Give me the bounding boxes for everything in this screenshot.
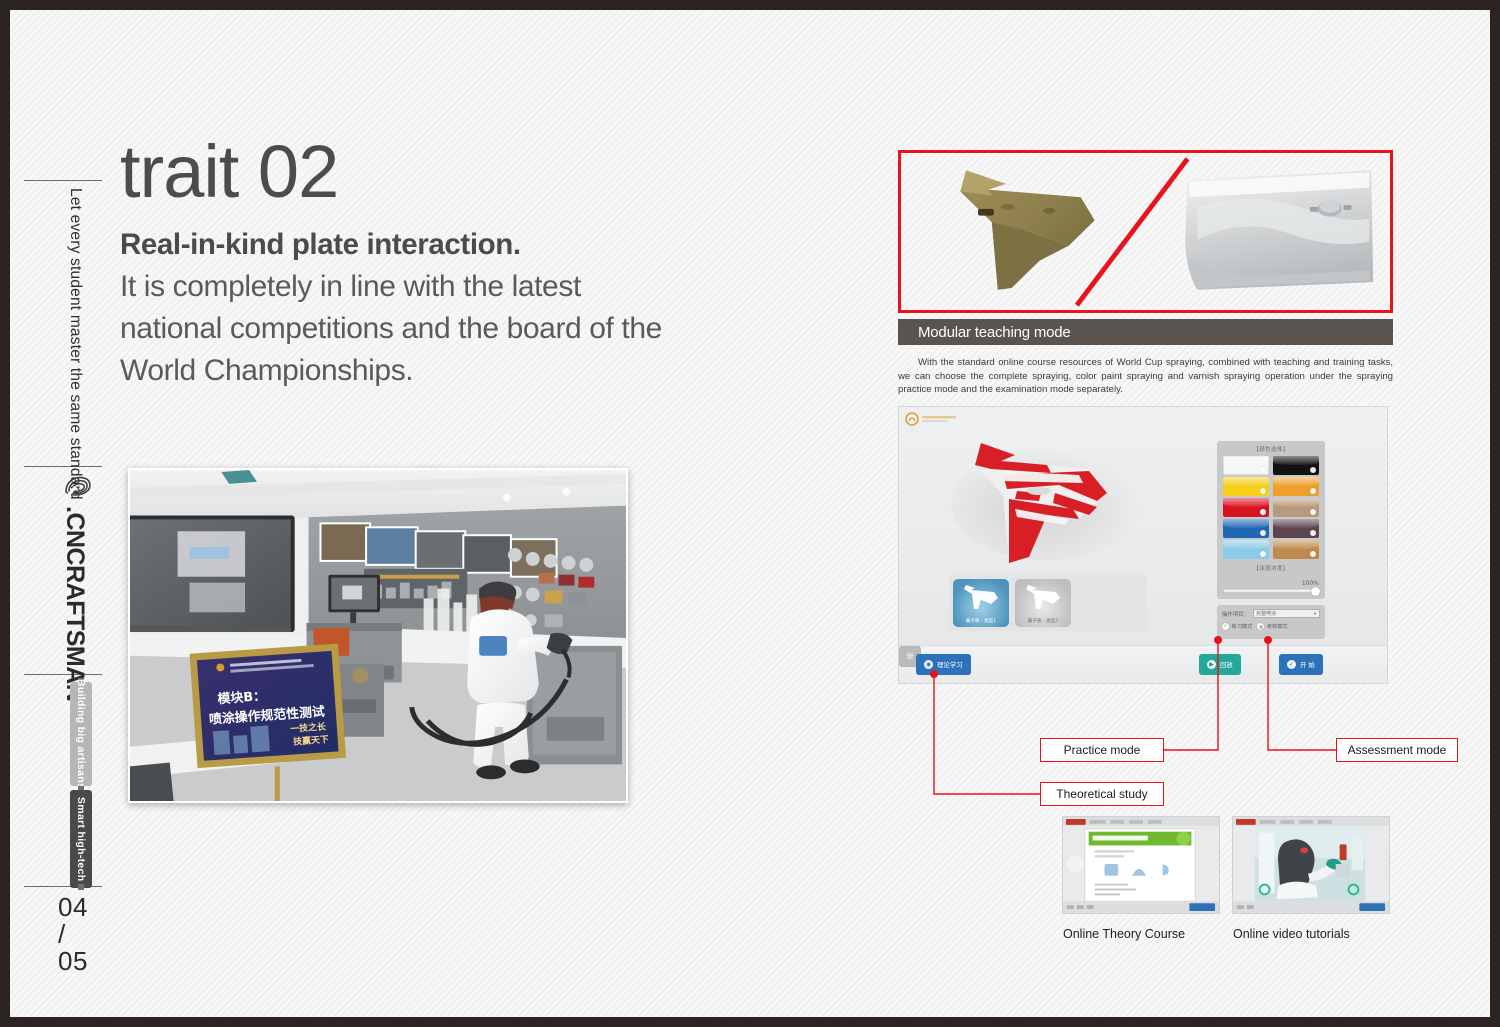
radio-practice-mode-label: 练习模式: [1232, 623, 1253, 630]
badge-smart-high-tech: Smart high-tech: [70, 790, 92, 888]
part-thumbnail-2-caption: 翼子板 - 类型2: [1015, 618, 1071, 624]
slider-knob[interactable]: [1311, 587, 1320, 596]
coating-density-slider[interactable]: 100%: [1223, 580, 1319, 593]
swatch-red[interactable]: [1223, 498, 1269, 517]
car-door-silver: [1185, 170, 1373, 289]
fender-thumb-icon-1: [960, 582, 1002, 610]
check-icon: [1222, 623, 1229, 630]
rail-tagline: Let every student master the same standa…: [66, 188, 84, 500]
swatch-bronze[interactable]: [1273, 540, 1319, 559]
radio-empty-icon: [1257, 623, 1264, 630]
lead-body-text: It is completely in line with the latest…: [120, 266, 680, 392]
spray-training-software-window: 翼子板 - 类型1 翼子板 - 类型2 【颜色选择】: [898, 406, 1388, 684]
chevron-down-icon: ▼: [1313, 611, 1317, 616]
browser-slide-green-header: [1063, 817, 1219, 913]
operation-project-select[interactable]: 完整喷涂 ▼: [1253, 609, 1320, 618]
slider-track[interactable]: [1223, 589, 1319, 593]
start-button-label: 开 始: [1300, 660, 1315, 669]
pill-nub-bottom: [78, 884, 84, 890]
swatch-tan[interactable]: [1273, 498, 1319, 517]
color-palette-panel: 【颜色选择】 【涂层浓度】 100%: [1217, 441, 1325, 599]
parts-illustration: [901, 153, 1390, 310]
rail-divider-1: [24, 180, 102, 181]
page-number-slash: /: [58, 919, 66, 949]
modular-teaching-paragraph: With the standard online course resource…: [898, 356, 1393, 397]
trait-kicker: trait 02: [120, 134, 680, 210]
lead-bold-line: Real-in-kind plate interaction.: [120, 228, 680, 262]
theory-study-button[interactable]: ◉ 理论学习: [916, 654, 971, 675]
theory-study-button-label: 理论学习: [937, 660, 963, 669]
part-thumbnail-2[interactable]: 翼子板 - 类型2: [1015, 579, 1071, 627]
right-column: Modular teaching mode With the standard …: [898, 150, 1396, 397]
replay-icon: ▶: [1207, 660, 1216, 669]
page-number: 04 / 05: [58, 894, 88, 975]
radio-exam-mode[interactable]: 考核模式: [1257, 623, 1287, 630]
swatch-yellow[interactable]: [1223, 477, 1269, 496]
training-room-illustration: 模块B： 喷涂操作规范性测试 一技之长 技赢天下: [130, 470, 626, 801]
operation-project-value: 完整喷涂: [1256, 610, 1276, 617]
online-video-tutorials-thumbnail[interactable]: [1232, 816, 1390, 914]
part-preview-canvas[interactable]: [929, 427, 1179, 567]
part-thumbnail-1-caption: 翼子板 - 类型1: [953, 618, 1009, 624]
radio-practice-mode[interactable]: 练习模式: [1222, 623, 1252, 630]
car-fender-gold: [960, 170, 1094, 289]
app-brand-logo-icon: [905, 412, 965, 426]
online-theory-course-caption: Online Theory Course: [1063, 927, 1185, 941]
page-canvas: Let every student master the same standa…: [10, 10, 1490, 1017]
swatch-light-blue[interactable]: [1223, 540, 1269, 559]
operation-project-row: 操作项目： 完整喷涂 ▼: [1217, 605, 1325, 618]
page-number-current: 04: [58, 892, 88, 922]
part-thumbnail-strip: 翼子板 - 类型1 翼子板 - 类型2: [949, 575, 1147, 631]
color-swatch-grid: [1223, 456, 1319, 559]
red-sprayed-fender-graphic: [929, 427, 1179, 567]
operation-project-label: 操作项目：: [1222, 610, 1249, 618]
app-footer-bar: ◉ 理论学习 ▶ 回放 ✓ 开 始 ⎈: [899, 645, 1387, 683]
swirl-logo-icon: [62, 472, 94, 502]
book-icon: ◉: [924, 660, 933, 669]
radio-exam-mode-label: 考核模式: [1267, 623, 1288, 630]
swatch-orange[interactable]: [1273, 477, 1319, 496]
replay-button[interactable]: ▶ 回放: [1199, 654, 1241, 675]
replay-button-label: 回放: [1220, 660, 1233, 669]
callout-assessment-mode: Assessment mode: [1336, 738, 1458, 762]
modular-teaching-mode-bar: Modular teaching mode: [898, 319, 1393, 345]
lead-block: trait 02 Real-in-kind plate interaction.…: [120, 134, 680, 392]
slider-value: 100%: [1223, 580, 1319, 587]
operation-mode-panel: 操作项目： 完整喷涂 ▼ 练习模式 考核模式: [1217, 605, 1325, 639]
online-theory-course-thumbnail[interactable]: [1062, 816, 1220, 914]
callout-practice-mode: Practice mode: [1040, 738, 1164, 762]
slider-title: 【涂层浓度】: [1217, 559, 1325, 572]
mode-radio-row: 练习模式 考核模式: [1217, 618, 1325, 630]
fender-thumb-icon-2: [1022, 582, 1064, 610]
swatch-plum[interactable]: [1273, 519, 1319, 538]
browser-video-spray-booth: [1233, 817, 1389, 913]
parts-showcase-frame: [898, 150, 1393, 313]
training-room-photo: 模块B： 喷涂操作规范性测试 一技之长 技赢天下: [128, 468, 628, 803]
svg-text:模块B：: 模块B：: [217, 688, 266, 707]
swatch-black[interactable]: [1273, 456, 1319, 475]
start-button[interactable]: ✓ 开 始: [1279, 654, 1323, 675]
swatch-white[interactable]: [1223, 456, 1269, 475]
badge-building-big-artisans: Building big artisans: [70, 682, 92, 786]
palette-title: 【颜色选择】: [1217, 441, 1325, 453]
modular-teaching-mode-label: Modular teaching mode: [898, 324, 1071, 341]
online-video-tutorials-caption: Online video tutorials: [1233, 927, 1350, 941]
check-circle-icon: ✓: [1287, 660, 1296, 669]
page-number-total: 05: [58, 946, 88, 976]
left-rail: Let every student master the same standa…: [18, 10, 108, 1017]
rail-divider-2: [24, 466, 102, 467]
callout-theoretical-study: Theoretical study: [1040, 782, 1164, 806]
swatch-blue[interactable]: [1223, 519, 1269, 538]
diagonal-red-slash: [1077, 159, 1188, 305]
part-thumbnail-1[interactable]: 翼子板 - 类型1: [953, 579, 1009, 627]
brand-name: .CNCRAFTSMAN: [60, 506, 89, 701]
